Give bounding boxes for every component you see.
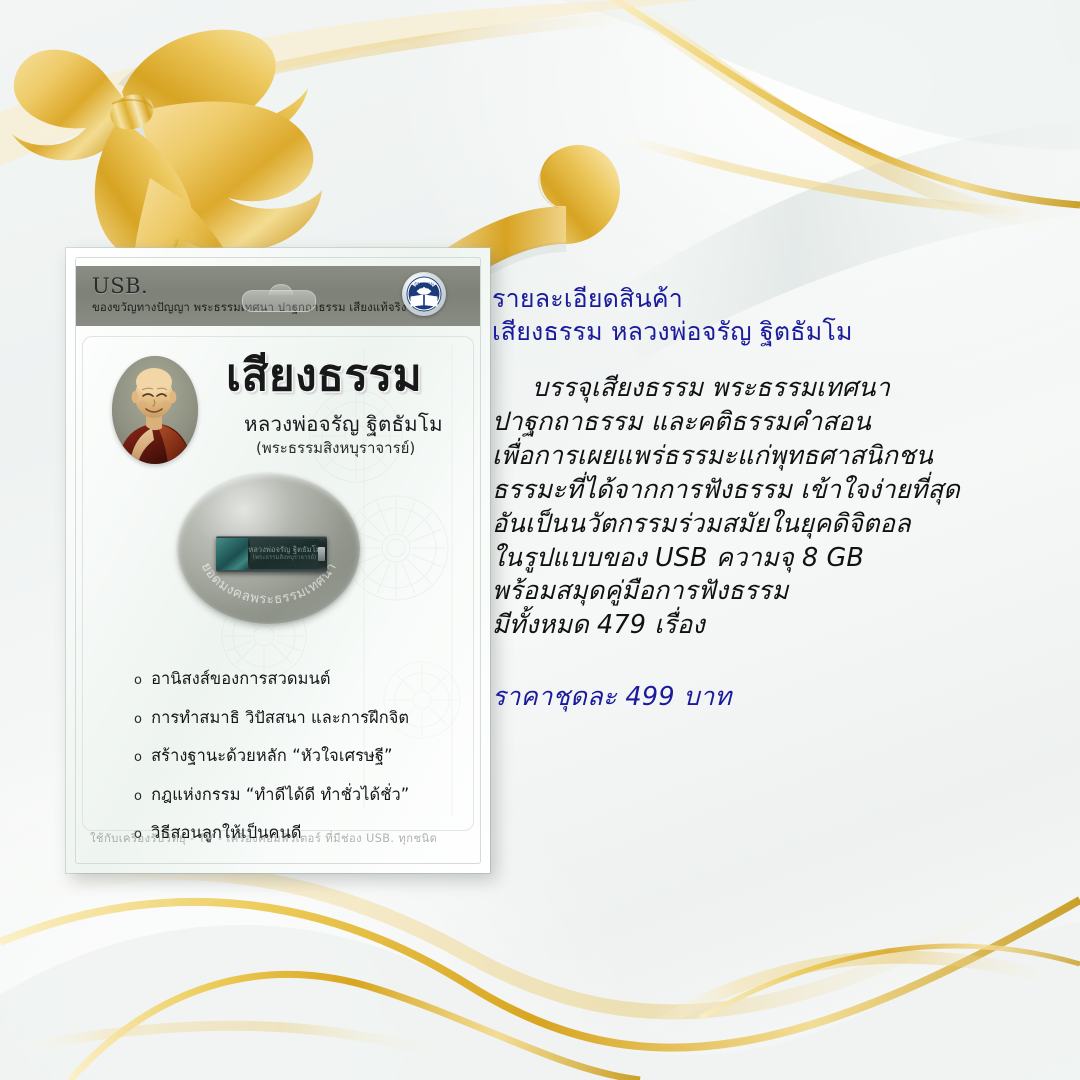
package-subtitle-secondary: (พระธรรมสิงหบุราจารย์) [256,436,415,460]
list-item: o กฎแห่งกรรม “ทำดีได้ดี ทำชั่วได้ชั่ว” [134,782,464,808]
description-line: ในรูปแบบของ USB ความจุ 8 GB [492,542,1052,576]
description-line: มีทั้งหมด 479 เรื่อง [492,609,1052,643]
list-item: o สร้างฐานะด้วยหลัก “หัวใจเศรษฐี” [134,743,464,769]
hang-hole [242,290,316,312]
description-line: อันเป็นนวัตกรรมร่วมสมัยในยุคดิจิตอล [492,508,1052,542]
product-description-column: รายละเอียดสินค้า เสียงธรรม หลวงพ่อจรัญ ฐ… [492,282,1052,717]
package-title: เสียงธรรม [226,352,422,400]
usb-body-label: หลวงพ่อจรัญ ฐิตธัมโม (พระธรรมสิงหบุราจาร… [250,539,319,569]
monk-portrait-photo [112,356,198,464]
bullet-marker-icon: o [134,673,142,688]
list-item-label: สร้างฐานะด้วยหลัก “หัวใจเศรษฐี” [151,743,393,769]
description-heading-line2: เสียงธรรม หลวงพ่อจรัญ ฐิตธัมโม [492,315,1052,348]
emblem-arc-text: ธรรมทาน [414,282,434,288]
product-package-photo: USB. ของขวัญทางปัญญา พระธรรมเทศนา ปาฐกถา… [66,248,490,873]
package-header-band: USB. ของขวัญทางปัญญา พระธรรมเทศนา ปาฐกถา… [76,266,480,326]
dharma-emblem-icon: ธรรมทาน [402,272,446,316]
bullet-marker-icon: o [134,750,142,765]
list-item-label: อานิสงส์ของการสวดมนต์ [151,666,331,692]
poster-canvas: USB. ของขวัญทางปัญญา พระธรรมเทศนา ปาฐกถา… [0,0,1080,1080]
description-body: บรรจุเสียงธรรม พระธรรมเทศนา ปาฐกถาธรรม แ… [492,372,1052,643]
description-line: เพื่อการเผยแพร่ธรรมะแก่พุทธศาสนิกชน [492,440,1052,474]
description-line: ปาฐกถาธรรม และคติธรรมคำสอน [492,406,1052,440]
description-line: บรรจุเสียงธรรม พระธรรมเทศนา [492,372,1052,406]
bullet-marker-icon: o [134,789,142,804]
usb-cap [216,538,248,570]
description-heading-line1: รายละเอียดสินค้า [492,282,1052,315]
package-footnote: ใช้กับเครื่องรับวิทยุ - TV - เครื่องคอมพ… [90,829,472,847]
description-line: ธรรมะที่ได้จากการฟังธรรม เข้าใจง่ายที่สุ… [492,474,1052,508]
usb-label-line2: (พระธรรมสิงหบุราจารย์) [253,555,317,562]
list-item-label: กฎแห่งกรรม “ทำดีได้ดี ทำชั่วได้ชั่ว” [151,782,409,808]
usb-flash-drive: หลวงพ่อจรัญ ฐิตธัมโม (พระธรรมสิงหบุราจาร… [216,536,327,572]
usb-connector-tip [318,547,325,561]
bullet-marker-icon: o [134,712,142,727]
list-item: o การทำสมาธิ วิปัสสนา และการฝึกจิต [134,705,464,731]
price-label: ราคาชุดละ 499 บาท [492,677,1052,717]
list-item-label: การทำสมาธิ วิปัสสนา และการฝึกจิต [151,705,409,731]
list-item: o อานิสงส์ของการสวดมนต์ [134,666,464,692]
description-line: พร้อมสมุดคู่มือการฟังธรรม [492,575,1052,609]
